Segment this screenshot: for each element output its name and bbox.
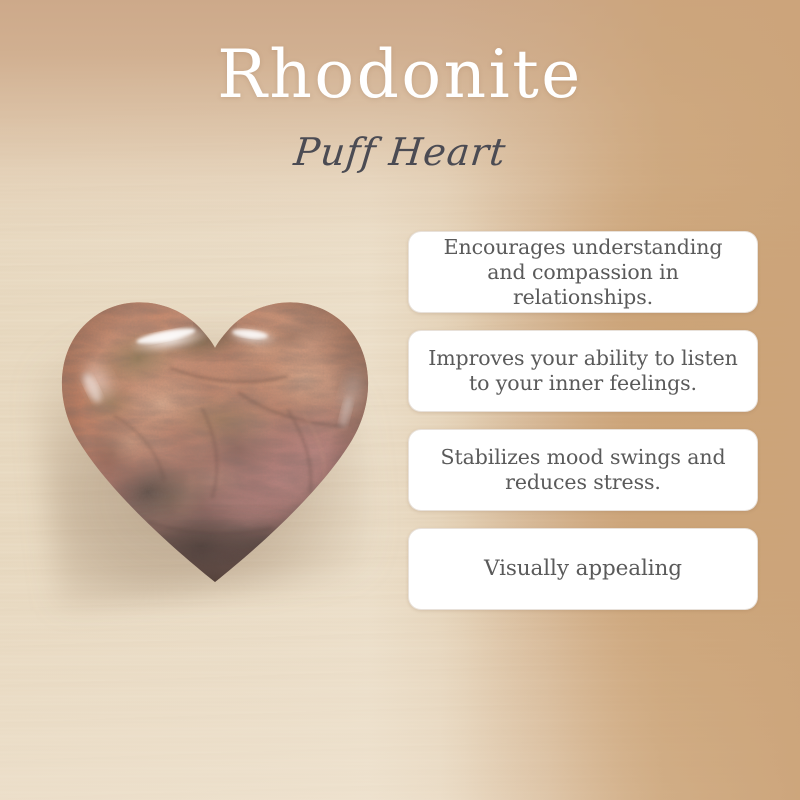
benefit-card: Visually appealing bbox=[408, 528, 758, 610]
product-subtitle: Puff Heart bbox=[0, 130, 800, 176]
benefit-card: Stabilizes mood swings and reduces stres… bbox=[408, 429, 758, 511]
product-infographic: Rhodonite Puff Heart bbox=[0, 0, 800, 800]
rhodonite-heart-stone-illustration bbox=[52, 284, 378, 590]
benefit-text: Stabilizes mood swings and reduces stres… bbox=[423, 445, 743, 495]
benefit-card: Improves your ability to listen to your … bbox=[408, 330, 758, 412]
benefit-text: Visually appealing bbox=[484, 556, 682, 582]
benefits-list: Encourages understanding and compassion … bbox=[408, 231, 758, 627]
product-image bbox=[52, 284, 378, 590]
benefit-text: Encourages understanding and compassion … bbox=[423, 235, 743, 310]
benefit-text: Improves your ability to listen to your … bbox=[423, 346, 743, 396]
product-title: Rhodonite bbox=[0, 42, 800, 108]
benefit-card: Encourages understanding and compassion … bbox=[408, 231, 758, 313]
